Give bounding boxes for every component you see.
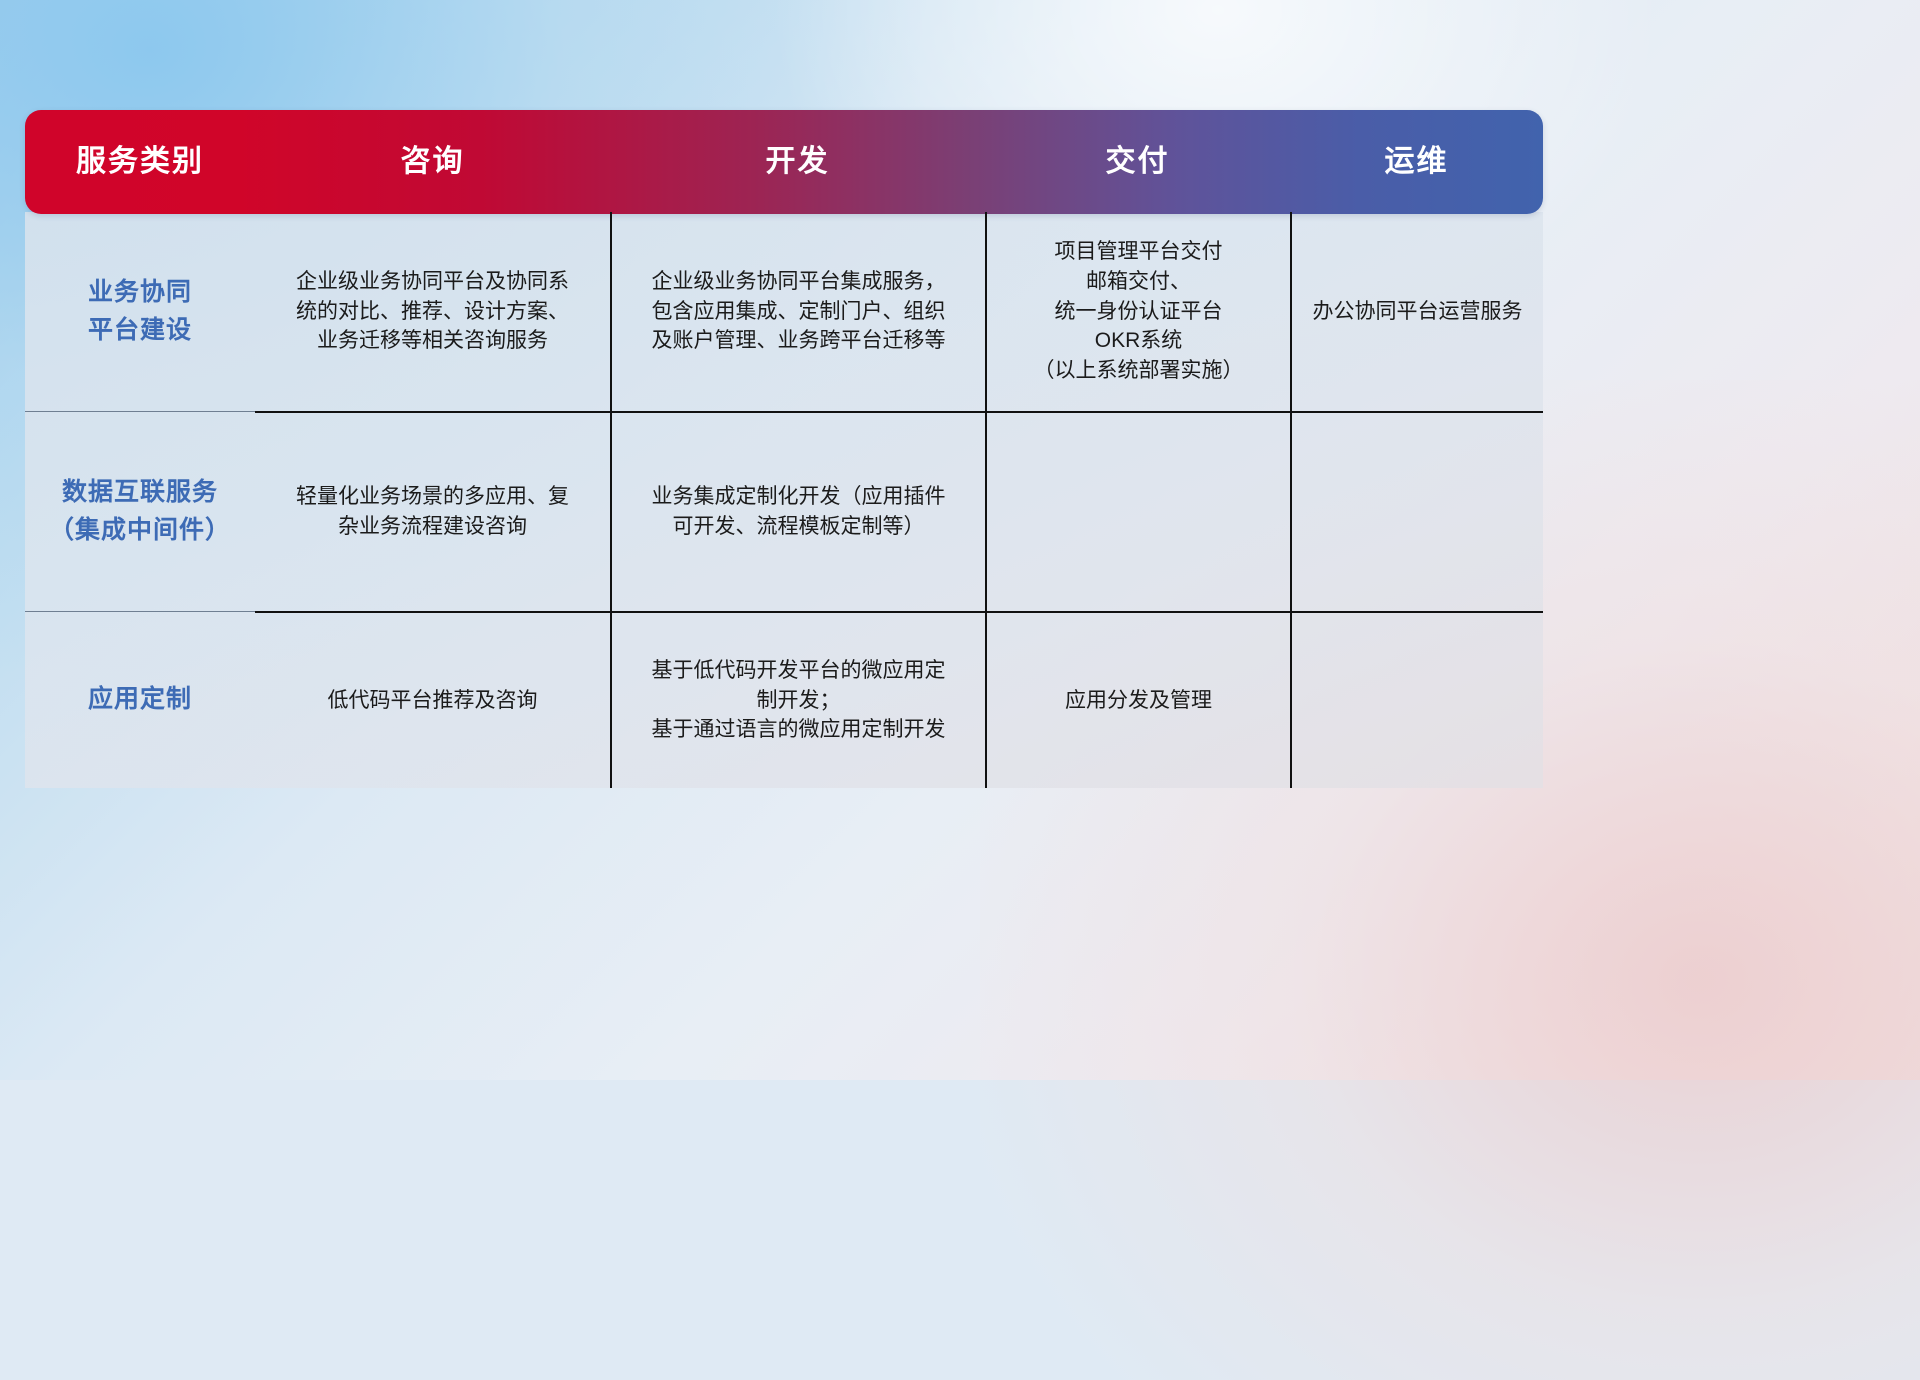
table-row: 业务协同 平台建设 企业级业务协同平台及协同系 统的对比、推荐、设计方案、 业务… (25, 212, 1543, 411)
header-cell-delivery: 交付 (985, 147, 1290, 177)
header-cell-operations: 运维 (1290, 147, 1543, 177)
row-label-business-collaboration: 业务协同 平台建设 (25, 212, 255, 411)
cell-r2-operations (1290, 611, 1543, 788)
table-row: 应用定制 低代码平台推荐及咨询 基于低代码开发平台的微应用定 制开发； 基于通过… (25, 611, 1543, 788)
cell-r0-operations: 办公协同平台运营服务 (1290, 212, 1543, 411)
cell-r2-development: 基于低代码开发平台的微应用定 制开发； 基于通过语言的微应用定制开发 (610, 611, 985, 788)
cell-r0-delivery: 项目管理平台交付 邮箱交付、 统一身份认证平台 OKR系统 （以上系统部署实施） (985, 212, 1290, 411)
service-matrix-table: 服务类别 咨询 开发 交付 运维 业务协同 平台建设 企业级业务协同平台及协同系… (25, 110, 1543, 788)
cell-r1-operations (1290, 411, 1543, 611)
cell-r0-development: 企业级业务协同平台集成服务， 包含应用集成、定制门户、组织 及账户管理、业务跨平… (610, 212, 985, 411)
cell-r1-development: 业务集成定制化开发（应用插件 可开发、流程模板定制等） (610, 411, 985, 611)
table-row: 数据互联服务 （集成中间件） 轻量化业务场景的多应用、复 杂业务流程建设咨询 业… (25, 411, 1543, 611)
header-cell-category: 服务类别 (25, 147, 255, 177)
cell-r0-consulting: 企业级业务协同平台及协同系 统的对比、推荐、设计方案、 业务迁移等相关咨询服务 (255, 212, 610, 411)
cell-r1-consulting: 轻量化业务场景的多应用、复 杂业务流程建设咨询 (255, 411, 610, 611)
header-cell-development: 开发 (610, 147, 985, 177)
table-header-row: 服务类别 咨询 开发 交付 运维 (25, 110, 1543, 214)
cell-r2-delivery: 应用分发及管理 (985, 611, 1290, 788)
row-label-data-integration: 数据互联服务 （集成中间件） (25, 411, 255, 611)
cell-r1-delivery (985, 411, 1290, 611)
table-grid: 业务协同 平台建设 企业级业务协同平台及协同系 统的对比、推荐、设计方案、 业务… (25, 212, 1543, 788)
row-label-app-customization: 应用定制 (25, 611, 255, 788)
cell-r2-consulting: 低代码平台推荐及咨询 (255, 611, 610, 788)
header-cell-consulting: 咨询 (255, 147, 610, 177)
